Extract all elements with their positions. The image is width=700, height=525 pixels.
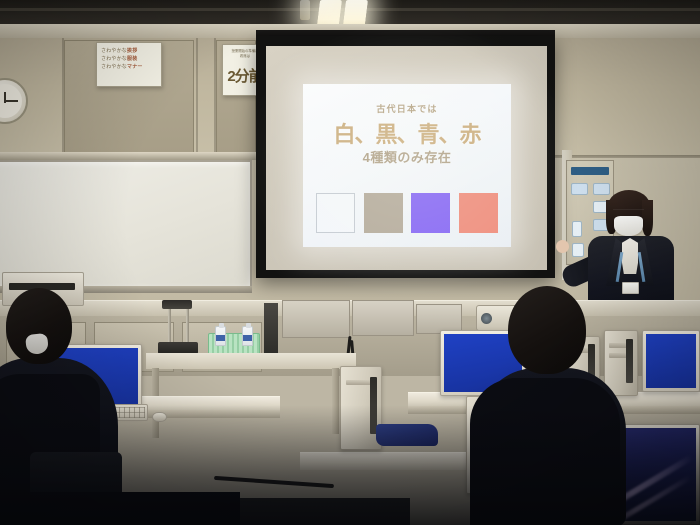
classroom-photo: さわやかな挨拶 さわやかな服装 さわやかなマナー 授業開始の準備は 着席は 2分… (0, 0, 700, 525)
presenter-glasses (613, 209, 644, 215)
whiteboard (0, 160, 252, 288)
red-swatch (459, 193, 498, 233)
floor-cable (214, 476, 334, 488)
tower-front-panel (626, 339, 633, 384)
student-front-right-shoulder (470, 378, 620, 525)
monitor-right (642, 330, 700, 392)
ceiling-light-glow (300, 0, 310, 20)
presenter-hand (556, 240, 569, 253)
sanitizer-bottle-2 (242, 326, 253, 346)
poster-line-1: さわやかな挨拶 (101, 48, 157, 56)
presentation-slide: 古代日本では 白、黒、青、赤 4種類のみ存在 (303, 84, 511, 247)
bottle-cap (246, 323, 251, 328)
presenter-face-mask (614, 216, 643, 236)
poster-line-3: さわやかなマナー (101, 64, 157, 72)
bottle-cap (219, 323, 224, 328)
student-front-right-head (508, 286, 586, 374)
wall-groove-2 (196, 38, 198, 156)
white-swatch (316, 193, 355, 233)
presenter-hair-right (642, 200, 653, 236)
document-camera-head (162, 300, 192, 309)
id-badge (622, 282, 639, 294)
equipment-rack-dark (264, 303, 278, 357)
foreground-shadow-left (0, 492, 240, 525)
black-swatch (364, 193, 403, 233)
monitor-right-screen (646, 334, 696, 388)
poster-line-2: さわやかな服装 (101, 56, 157, 64)
poster-manners: さわやかな挨拶 さわやかな服装 さわやかなマナー (96, 42, 162, 87)
slide-subtext: 4種類のみ存在 (303, 147, 511, 166)
blue-swatch (411, 193, 450, 233)
bottle-label (216, 335, 225, 341)
front-desk-leg-right (332, 368, 339, 434)
notice-card (572, 221, 582, 237)
projector-lens (481, 313, 492, 324)
equipment-unit-2 (352, 300, 414, 336)
desk-item-blue-cloth (376, 424, 438, 446)
notice-card (593, 183, 610, 195)
clock-hand-minute (5, 100, 18, 102)
sanitizer-bottle-1 (215, 326, 226, 346)
front-desk-surface (146, 353, 356, 369)
pc-tower-right-1 (604, 330, 638, 396)
foreground-shadow-center (230, 498, 410, 525)
slide-main-text: 白、黒、青、赤 (303, 117, 511, 149)
mouse-left (152, 412, 167, 422)
notice-board-header (571, 167, 609, 175)
notice-card (571, 183, 588, 195)
whiteboard-top-rail (0, 152, 256, 160)
slide-heading: 古代日本では (303, 102, 511, 115)
notice-card (572, 243, 584, 257)
slide-color-swatches (316, 192, 498, 234)
bottle-label (243, 335, 252, 341)
equipment-unit-1 (282, 300, 350, 338)
